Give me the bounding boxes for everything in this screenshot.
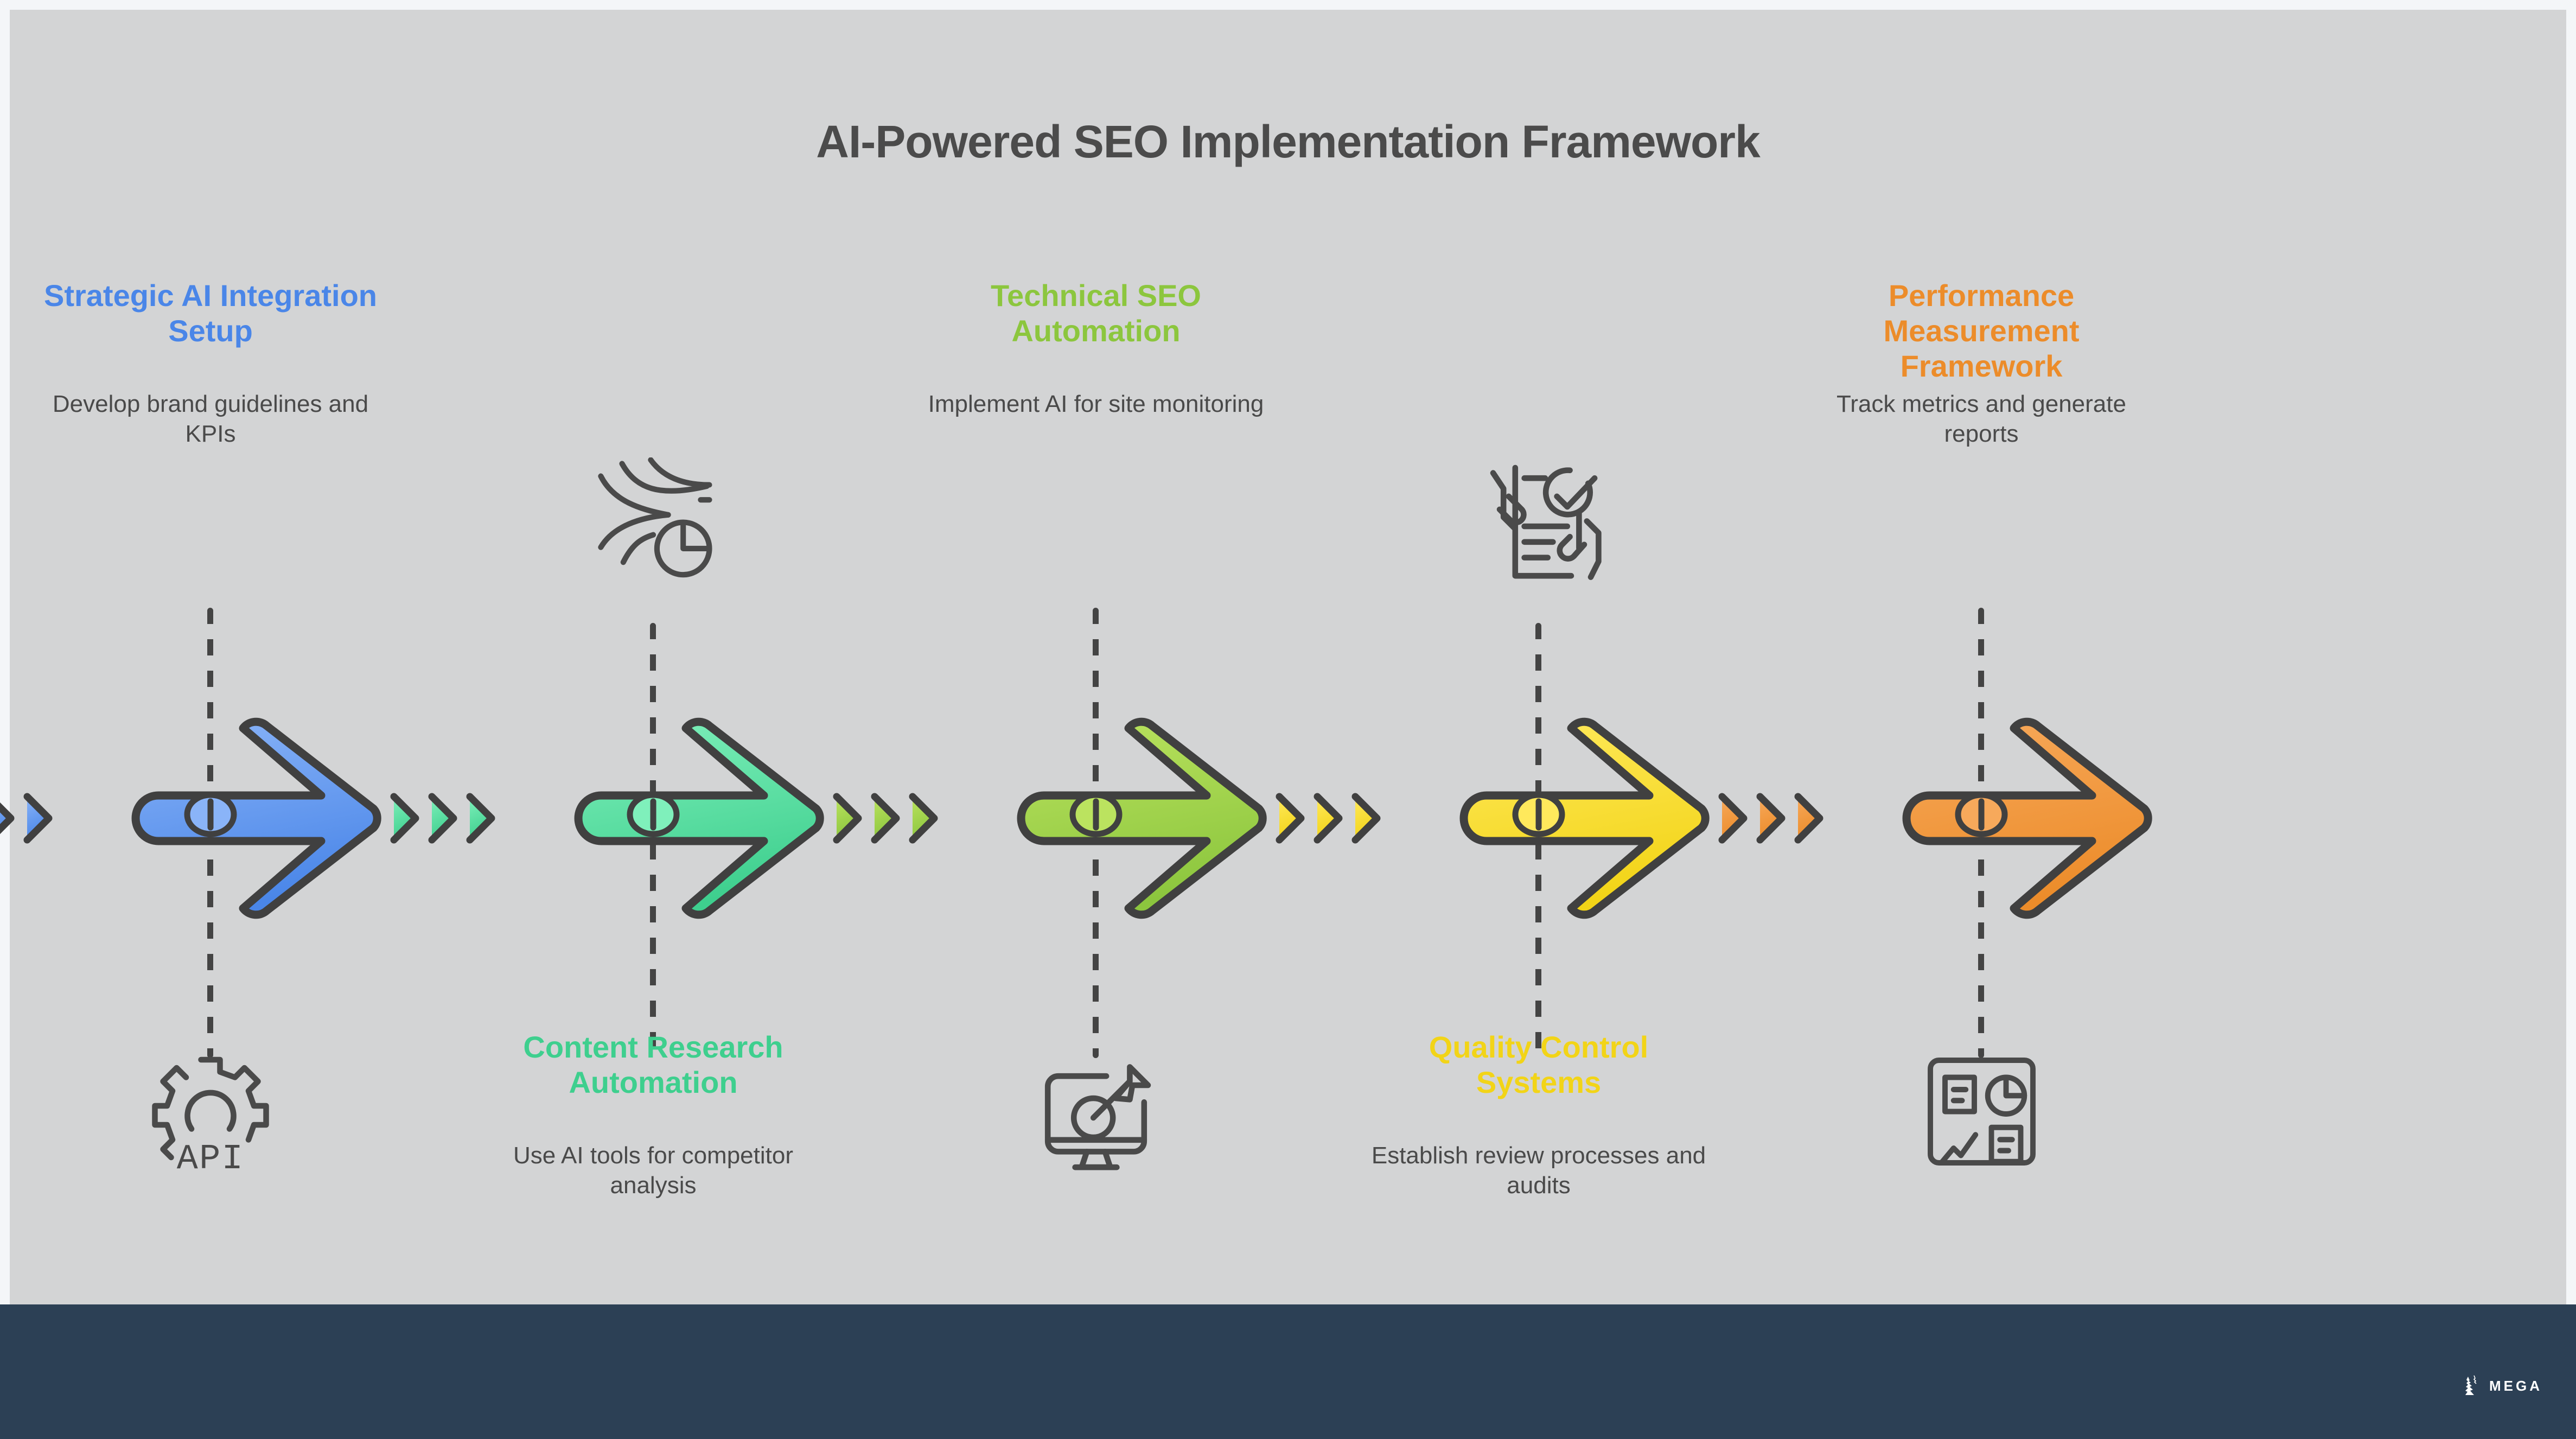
stage-heading-4: Quality Control Systems [1365,1030,1712,1100]
stage-description-4: Establish review processes and audits [1365,1141,1712,1200]
hand-checklist-icon [1474,455,1604,585]
speed-clock-icon [591,457,716,582]
stage-node-5 [1953,780,2010,849]
stage-node-4 [1510,780,1567,849]
stage-arrow-4 [1464,722,1705,915]
dashboard-report-icon [1921,1050,2043,1173]
stage-column-5: Performance Measurement Framework Track … [1775,10,2188,1304]
stage-heading-2: Content Research Automation [480,1030,827,1100]
stage-node-1 [182,780,239,849]
stage-column-2: Content Research Automation Use AI tools… [447,10,859,1304]
stage-arrow-group-1 [0,715,482,921]
stage-description-1: Develop brand guidelines and KPIs [37,390,384,449]
stage-icon-3 [922,1030,1270,1193]
infographic-canvas: AI-Powered SEO Implementation Framework … [10,10,2566,1304]
stage-arrow-5 [1907,722,2148,915]
stage-node-3 [1068,780,1124,849]
svg-text:API: API [177,1139,245,1179]
infographic-page: AI-Powered SEO Implementation Framework … [0,0,2576,1439]
stage-icon-5 [1808,1030,2155,1193]
stage-heading-3: Technical SEO Automation [922,278,1270,349]
stage-heading-1: Strategic AI Integration Setup [37,278,384,349]
stage-icon-2 [480,438,827,601]
watermark: MEGA [2462,1375,2542,1397]
stage-node-2 [625,780,681,849]
stage-description-2: Use AI tools for competitor analysis [480,1141,827,1200]
gear-api-icon: API [143,1043,278,1179]
stage-arrow-3 [1021,722,1263,915]
footer-bar: MEGA [0,1304,2576,1439]
stage-heading-5: Performance Measurement Framework [1808,278,2155,384]
stage-arrow-1 [136,722,377,915]
stage-icon-4 [1365,438,1712,601]
stage-description-5: Track metrics and generate reports [1808,390,2155,449]
mega-logo-icon [2462,1375,2481,1397]
stage-arrow-2 [578,722,820,915]
stage-icon-1: API [37,1030,384,1193]
stage-column-3: Technical SEO Automation Implement AI fo… [890,10,1302,1304]
watermark-label: MEGA [2489,1378,2542,1395]
monitor-target-icon [1031,1046,1161,1176]
stage-description-3: Implement AI for site monitoring [922,390,1270,419]
stage-column-4: Quality Control Systems Establish review… [1332,10,1745,1304]
stage-column-1: Strategic AI Integration Setup Develop b… [4,10,417,1304]
